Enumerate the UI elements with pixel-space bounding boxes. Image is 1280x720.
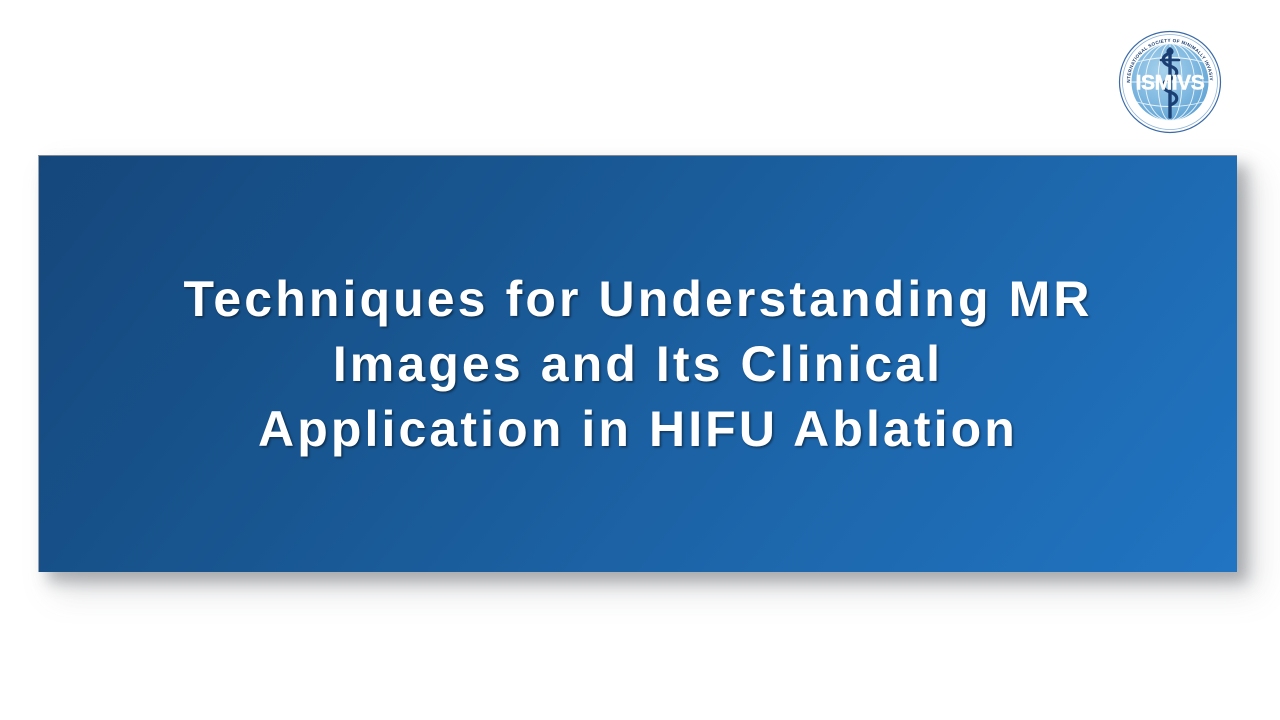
presentation-slide: INTERNATIONAL SOCIETY OF MINIMALLY INVAS…	[0, 0, 1280, 720]
title-panel: Techniques for Understanding MR Images a…	[38, 155, 1237, 572]
ismivs-logo: INTERNATIONAL SOCIETY OF MINIMALLY INVAS…	[1117, 29, 1223, 135]
logo-acronym: ISMIVS	[1136, 72, 1205, 95]
slide-title: Techniques for Understanding MR Images a…	[39, 267, 1237, 462]
